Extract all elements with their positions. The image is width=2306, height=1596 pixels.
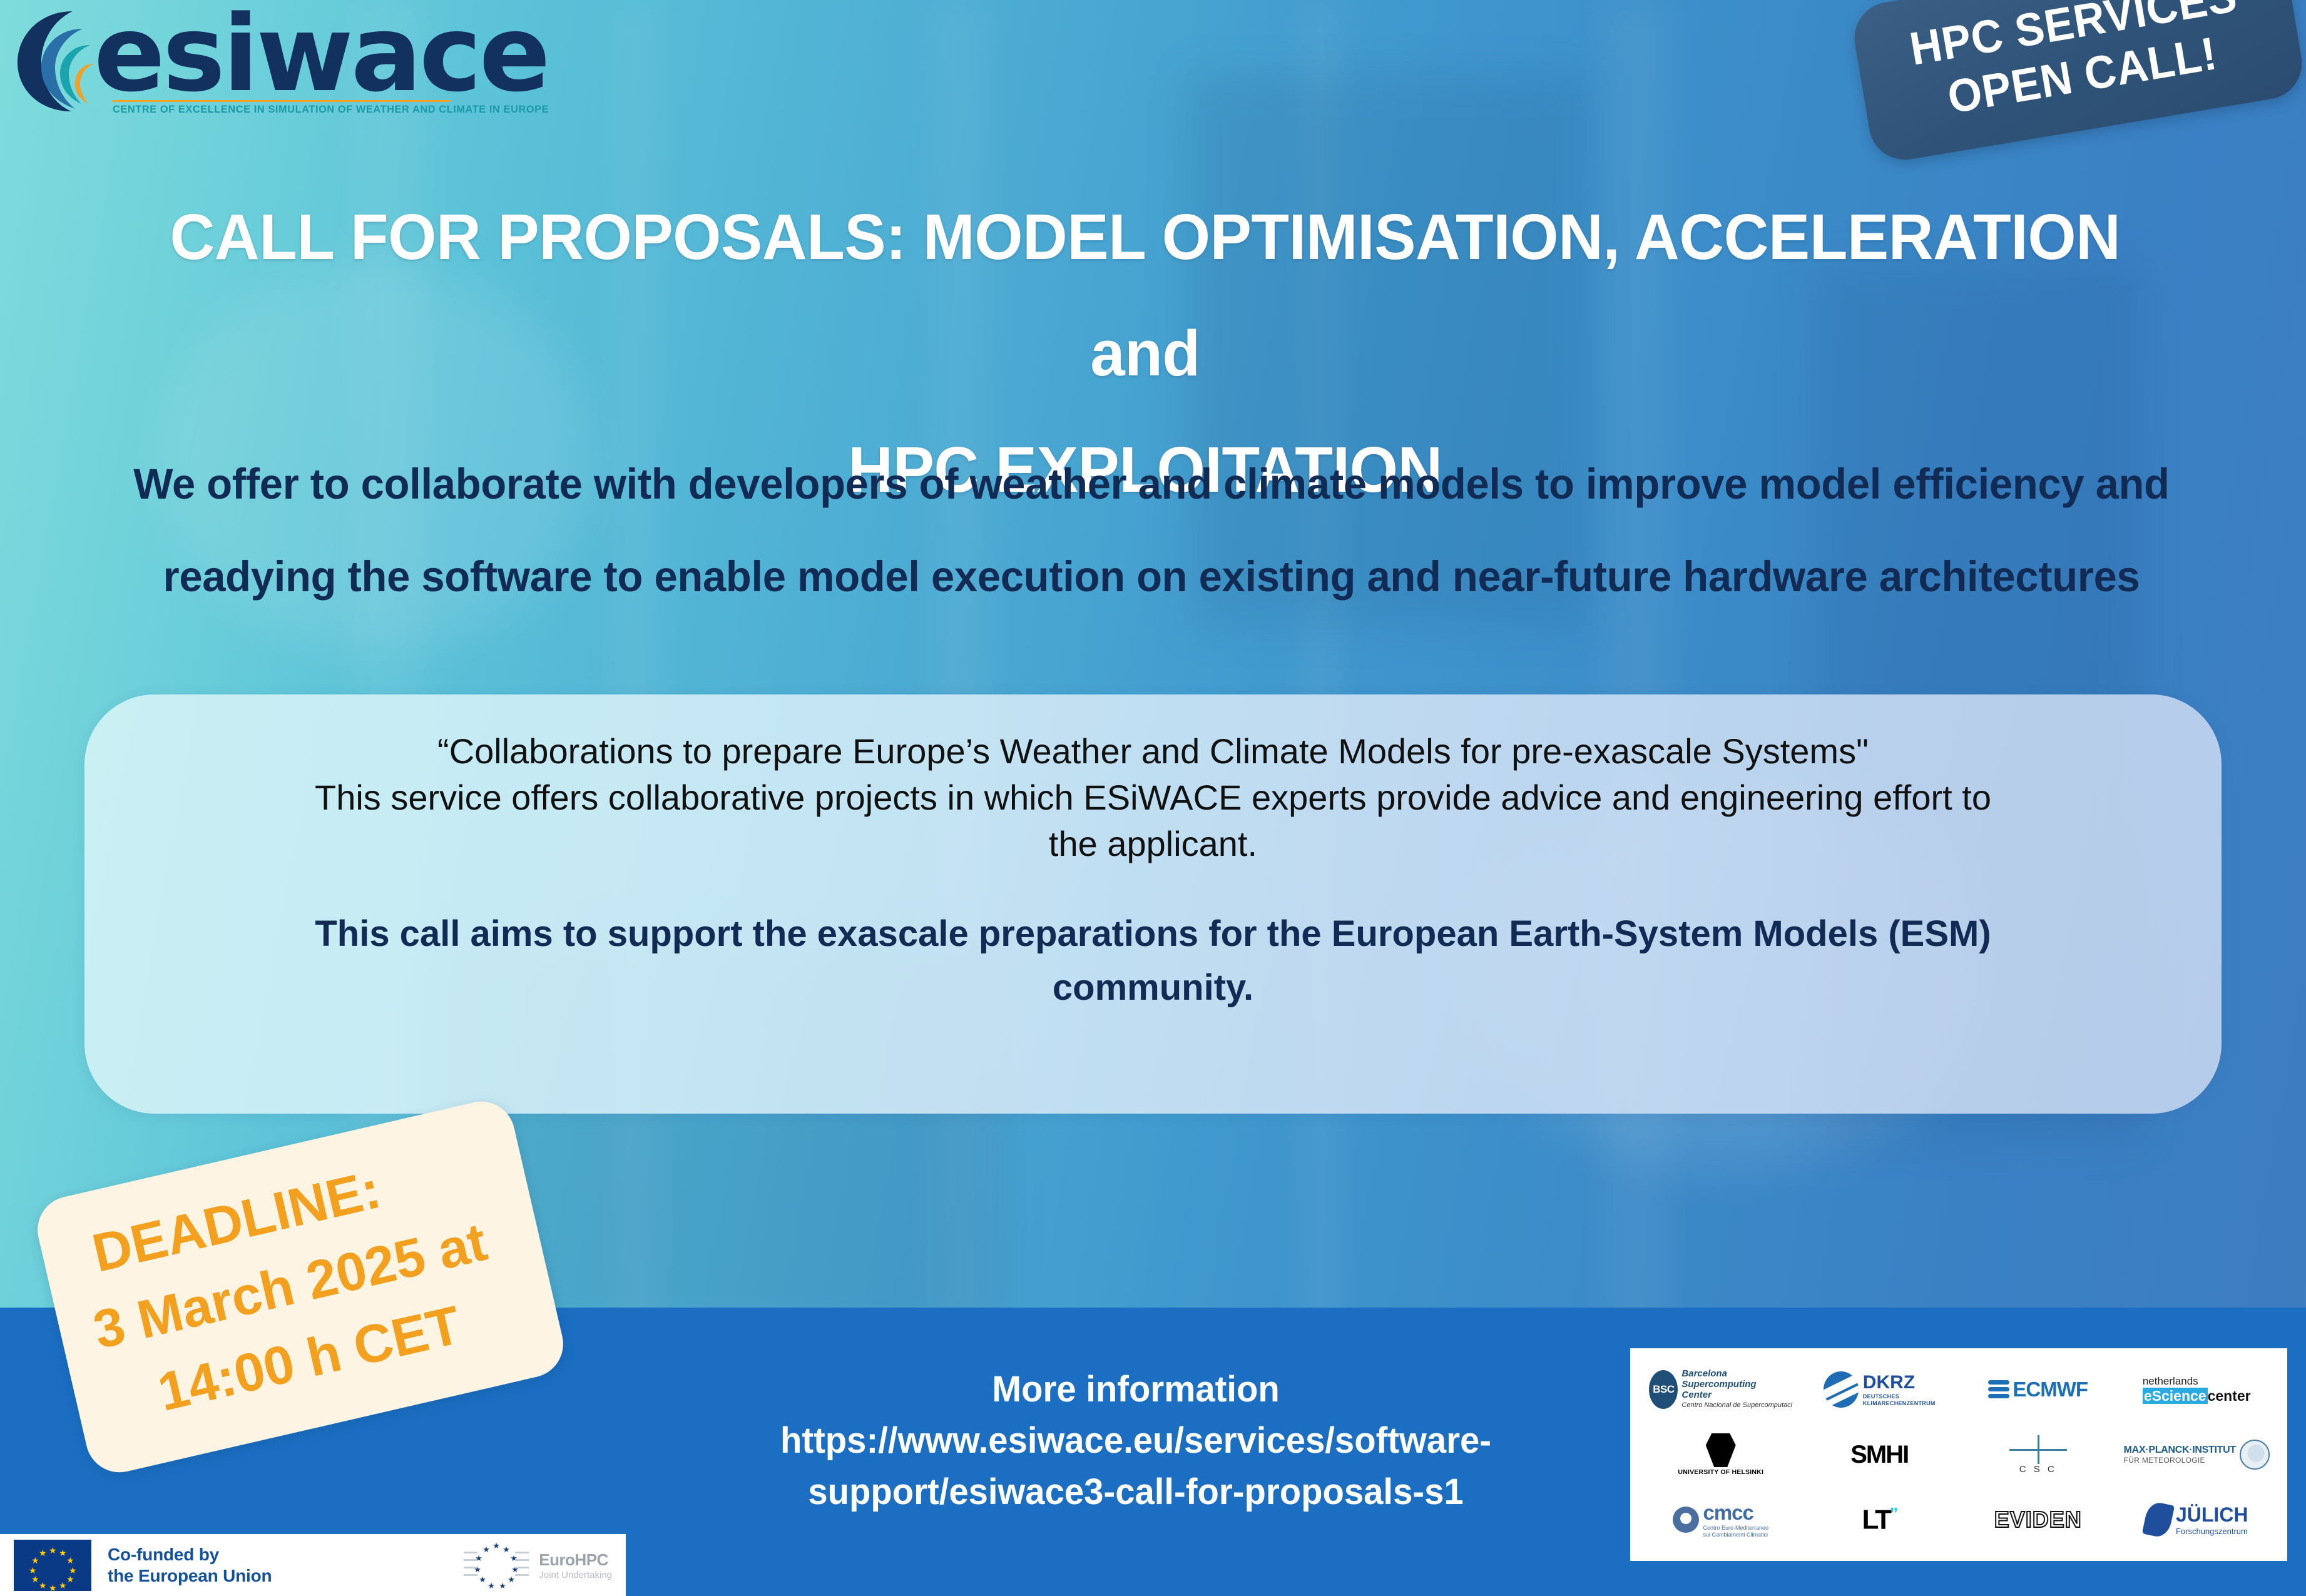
mpi-line-1: MAX·PLANCK·INSTITUT <box>2124 1445 2236 1456</box>
bsc-subtitle: Centro Nacional de Supercomputaci <box>1681 1400 1792 1411</box>
lt-wordmark: LT <box>1862 1504 1890 1535</box>
university-of-helsinki-logo: UNIVERSITY OF HELSINKI <box>1641 1422 1800 1487</box>
logo-divider-rule <box>113 100 451 102</box>
esiwace-tagline: CENTRE OF EXCELLENCE IN SIMULATION OF WE… <box>113 104 459 116</box>
eu-cofunded-line-2: the European Union <box>108 1565 272 1587</box>
page-subtitle: We offer to collaborate with developers … <box>56 438 2247 623</box>
dkrz-subtitle-2: KLIMARECHENZENTRUM <box>1863 1400 1936 1407</box>
ecmwf-logo: ECMWF <box>1959 1357 2118 1422</box>
lt-logo: LT” <box>1800 1487 1959 1552</box>
dkrz-wordmark: DKRZ <box>1863 1372 1936 1393</box>
dkrz-logo: DKRZ DEUTSCHES KLIMARECHENZENTRUM <box>1800 1357 1959 1422</box>
service-quote-block: “Collaborations to prepare Europe’s Weat… <box>197 728 2109 867</box>
escience-rest: center <box>2208 1388 2251 1404</box>
smhi-wordmark: SMHI <box>1850 1441 1908 1469</box>
escience-top-label: netherlands <box>2143 1375 2251 1388</box>
eviden-wordmark: EVIDEN <box>1994 1507 2082 1533</box>
partner-logo-row: BSC Barcelona Supercomputing Center Cent… <box>1641 1357 2276 1422</box>
headline-line-1: CALL FOR PROPOSALS: MODEL OPTIMISATION, … <box>113 179 2178 412</box>
cmcc-wordmark: cmcc <box>1703 1501 1768 1525</box>
ecmwf-logo-mark <box>1988 1380 2009 1399</box>
partner-logo-row: UNIVERSITY OF HELSINKI SMHI C S C MAX·PL… <box>1641 1422 2276 1487</box>
call-url-line-1[interactable]: https://www.esiwace.eu/services/software… <box>647 1415 1625 1466</box>
aims-line-1: This call aims to support the exascale p… <box>197 907 2109 961</box>
cmcc-subtitle-1: Centro Euro-Mediterraneo <box>1703 1525 1768 1532</box>
eviden-logo: EVIDEN <box>1959 1487 2118 1552</box>
bsc-logo-mark: BSC <box>1649 1370 1678 1409</box>
bsc-line-3: Center <box>1681 1390 1792 1400</box>
cmcc-subtitle-2: sui Cambiamenti Climatici <box>1703 1532 1768 1538</box>
helsinki-crest-icon <box>1706 1433 1736 1467</box>
partner-logo-row: cmcc Centro Euro-Mediterraneo sui Cambia… <box>1641 1487 2276 1552</box>
max-planck-institut-logo: MAX·PLANCK·INSTITUT FÜR METEOROLOGIE <box>2118 1422 2277 1487</box>
esiwace-logo[interactable]: esiwace CENTRE OF EXCELLENCE IN SIMULATI… <box>13 5 463 121</box>
dkrz-logo-mark <box>1824 1371 1859 1408</box>
more-info-label: More information <box>647 1364 1625 1415</box>
call-aims-block: This call aims to support the exascale p… <box>197 907 2109 1015</box>
ecmwf-wordmark: ECMWF <box>2013 1378 2088 1401</box>
smhi-logo: SMHI <box>1800 1422 1959 1487</box>
quote-line-3: the applicant. <box>197 821 2109 867</box>
escience-center-logo: netherlands eSciencecenter <box>2118 1357 2277 1422</box>
eu-flag-icon: ★ ★ ★ ★ ★ ★ ★ ★ ★ ★ ★ ★ <box>14 1540 91 1591</box>
mpi-line-2: FÜR METEOROLOGIE <box>2124 1456 2236 1465</box>
helsinki-label: UNIVERSITY OF HELSINKI <box>1678 1468 1763 1476</box>
poster-canvas: esiwace CENTRE OF EXCELLENCE IN SIMULATI… <box>0 0 2306 1596</box>
eurohpc-subtitle: Joint Undertaking <box>539 1570 612 1580</box>
cmcc-logo: cmcc Centro Euro-Mediterraneo sui Cambia… <box>1641 1487 1800 1552</box>
esiwace-wordmark: esiwace <box>94 1 548 106</box>
quote-line-2: This service offers collaborative projec… <box>197 775 2109 821</box>
lt-quote-icon: ” <box>1890 1504 1897 1523</box>
aims-line-2: community. <box>197 961 2109 1015</box>
eurohpc-wordmark: EuroHPC <box>539 1550 612 1570</box>
csc-wordmark: C S C <box>2009 1464 2067 1475</box>
partner-logos-panel: BSC Barcelona Supercomputing Center Cent… <box>1630 1348 2287 1561</box>
juelich-logo-mark <box>2142 1500 2175 1539</box>
eurohpc-logo: ★ ★ ★ ★ ★ ★ ★ ★ ★ ★ ★ Euro <box>464 1540 612 1590</box>
eu-cofunded-line-1: Co-funded by <box>108 1544 272 1565</box>
quote-line-1: “Collaborations to prepare Europe’s Weat… <box>197 728 2109 775</box>
csc-logo-mark <box>2009 1435 2067 1464</box>
subtitle-line-2: readying the software to enable model ex… <box>89 531 2214 623</box>
service-description-panel: “Collaborations to prepare Europe’s Weat… <box>84 694 2222 1114</box>
call-url-line-2[interactable]: support/esiwace3-call-for-proposals-s1 <box>647 1466 1625 1518</box>
juelich-subtitle: Forschungszentrum <box>2176 1527 2248 1536</box>
hpc-services-open-call-badge: HPC SERVICES OPEN CALL! <box>1849 0 2306 165</box>
more-information-block: More information https://www.esiwace.eu/… <box>632 1364 1640 1518</box>
minerva-head-icon <box>2240 1440 2270 1470</box>
cmcc-logo-mark <box>1673 1507 1699 1533</box>
eu-funding-panel: ★ ★ ★ ★ ★ ★ ★ ★ ★ ★ ★ ★ Co-funded by the… <box>0 1534 626 1596</box>
bsc-logo: BSC Barcelona Supercomputing Center Cent… <box>1641 1357 1800 1422</box>
csc-logo: C S C <box>1959 1422 2118 1487</box>
juelich-logo: JÜLICH Forschungszentrum <box>2118 1487 2277 1552</box>
juelich-wordmark: JÜLICH <box>2176 1503 2248 1527</box>
dkrz-subtitle-1: DEUTSCHES <box>1863 1393 1936 1400</box>
subtitle-line-1: We offer to collaborate with developers … <box>89 438 2214 531</box>
bsc-line-2: Supercomputing <box>1681 1379 1792 1390</box>
escience-highlight: eScience <box>2143 1388 2208 1404</box>
eu-cofunded-text: Co-funded by the European Union <box>108 1544 272 1587</box>
eurohpc-ring-icon: ★ ★ ★ ★ ★ ★ ★ ★ ★ ★ ★ <box>464 1540 529 1590</box>
bsc-line-1: Barcelona <box>1681 1368 1792 1379</box>
